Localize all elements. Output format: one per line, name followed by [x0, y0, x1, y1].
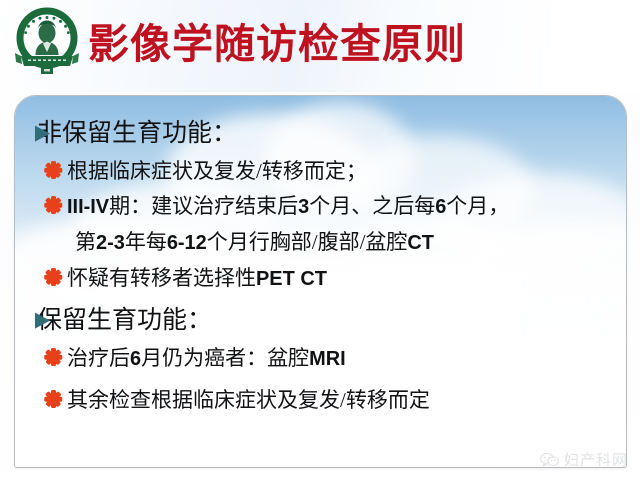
slide-title-band: 影像学随访检查原则	[0, 0, 640, 92]
list-item: III-IV期：建议治疗结束后3个月、之后每6个月， 第2-3年每6-12个月行…	[15, 189, 626, 261]
section-heading-label: 非保留生育功能：	[37, 120, 237, 147]
red-star-bullet-icon	[45, 162, 61, 178]
list-item-label-line2: 第2-3年每6-12个月行胸部/腹部/盆腔CT	[67, 225, 620, 261]
list-item: 根据临床症状及复发/转移而定；	[15, 154, 626, 189]
red-star-bullet-icon	[45, 197, 61, 213]
section-heading: 保留生育功能：	[15, 301, 626, 340]
watermark: 妇产科网	[540, 449, 628, 470]
list-item-label: 怀疑有转移者选择性PET CT	[67, 266, 327, 290]
list-item: 治疗后6月仍为癌者：盆腔MRI	[15, 341, 626, 377]
slide-body: 非保留生育功能： 根据临床症状及复发/转移而定； III-IV期：建议治疗结束后…	[15, 96, 626, 467]
watermark-label: 妇产科网	[564, 449, 628, 470]
red-star-bullet-icon	[45, 391, 61, 407]
red-star-bullet-icon	[45, 269, 61, 285]
list-item-label: 其余检查根据临床症状及复发/转移而定	[67, 388, 430, 412]
page-title: 影像学随访检查原则	[88, 14, 466, 74]
section-heading: 非保留生育功能：	[15, 114, 626, 153]
arrow-bullet-icon	[35, 312, 50, 328]
university-emblem-logo	[10, 6, 84, 78]
section-heading-label: 保留生育功能：	[37, 307, 212, 334]
list-item-label-line1: III-IV期：建议治疗结束后3个月、之后每6个月，	[67, 194, 509, 218]
list-item: 怀疑有转移者选择性PET CT	[15, 261, 626, 297]
red-star-bullet-icon	[45, 349, 61, 365]
list-item-label: 根据临床症状及复发/转移而定；	[67, 159, 367, 183]
list-item-label: 治疗后6月仍为癌者：盆腔MRI	[67, 346, 346, 370]
arrow-bullet-icon	[35, 125, 50, 141]
content-panel: 非保留生育功能： 根据临床症状及复发/转移而定； III-IV期：建议治疗结束后…	[14, 95, 627, 468]
slide-canvas: 影像学随访检查原则 非保留生育功能： 根据临床症状及复发/转移而定；	[0, 0, 640, 480]
chat-bubble-icon	[540, 452, 559, 467]
list-item: 其余检查根据临床症状及复发/转移而定	[15, 383, 626, 418]
